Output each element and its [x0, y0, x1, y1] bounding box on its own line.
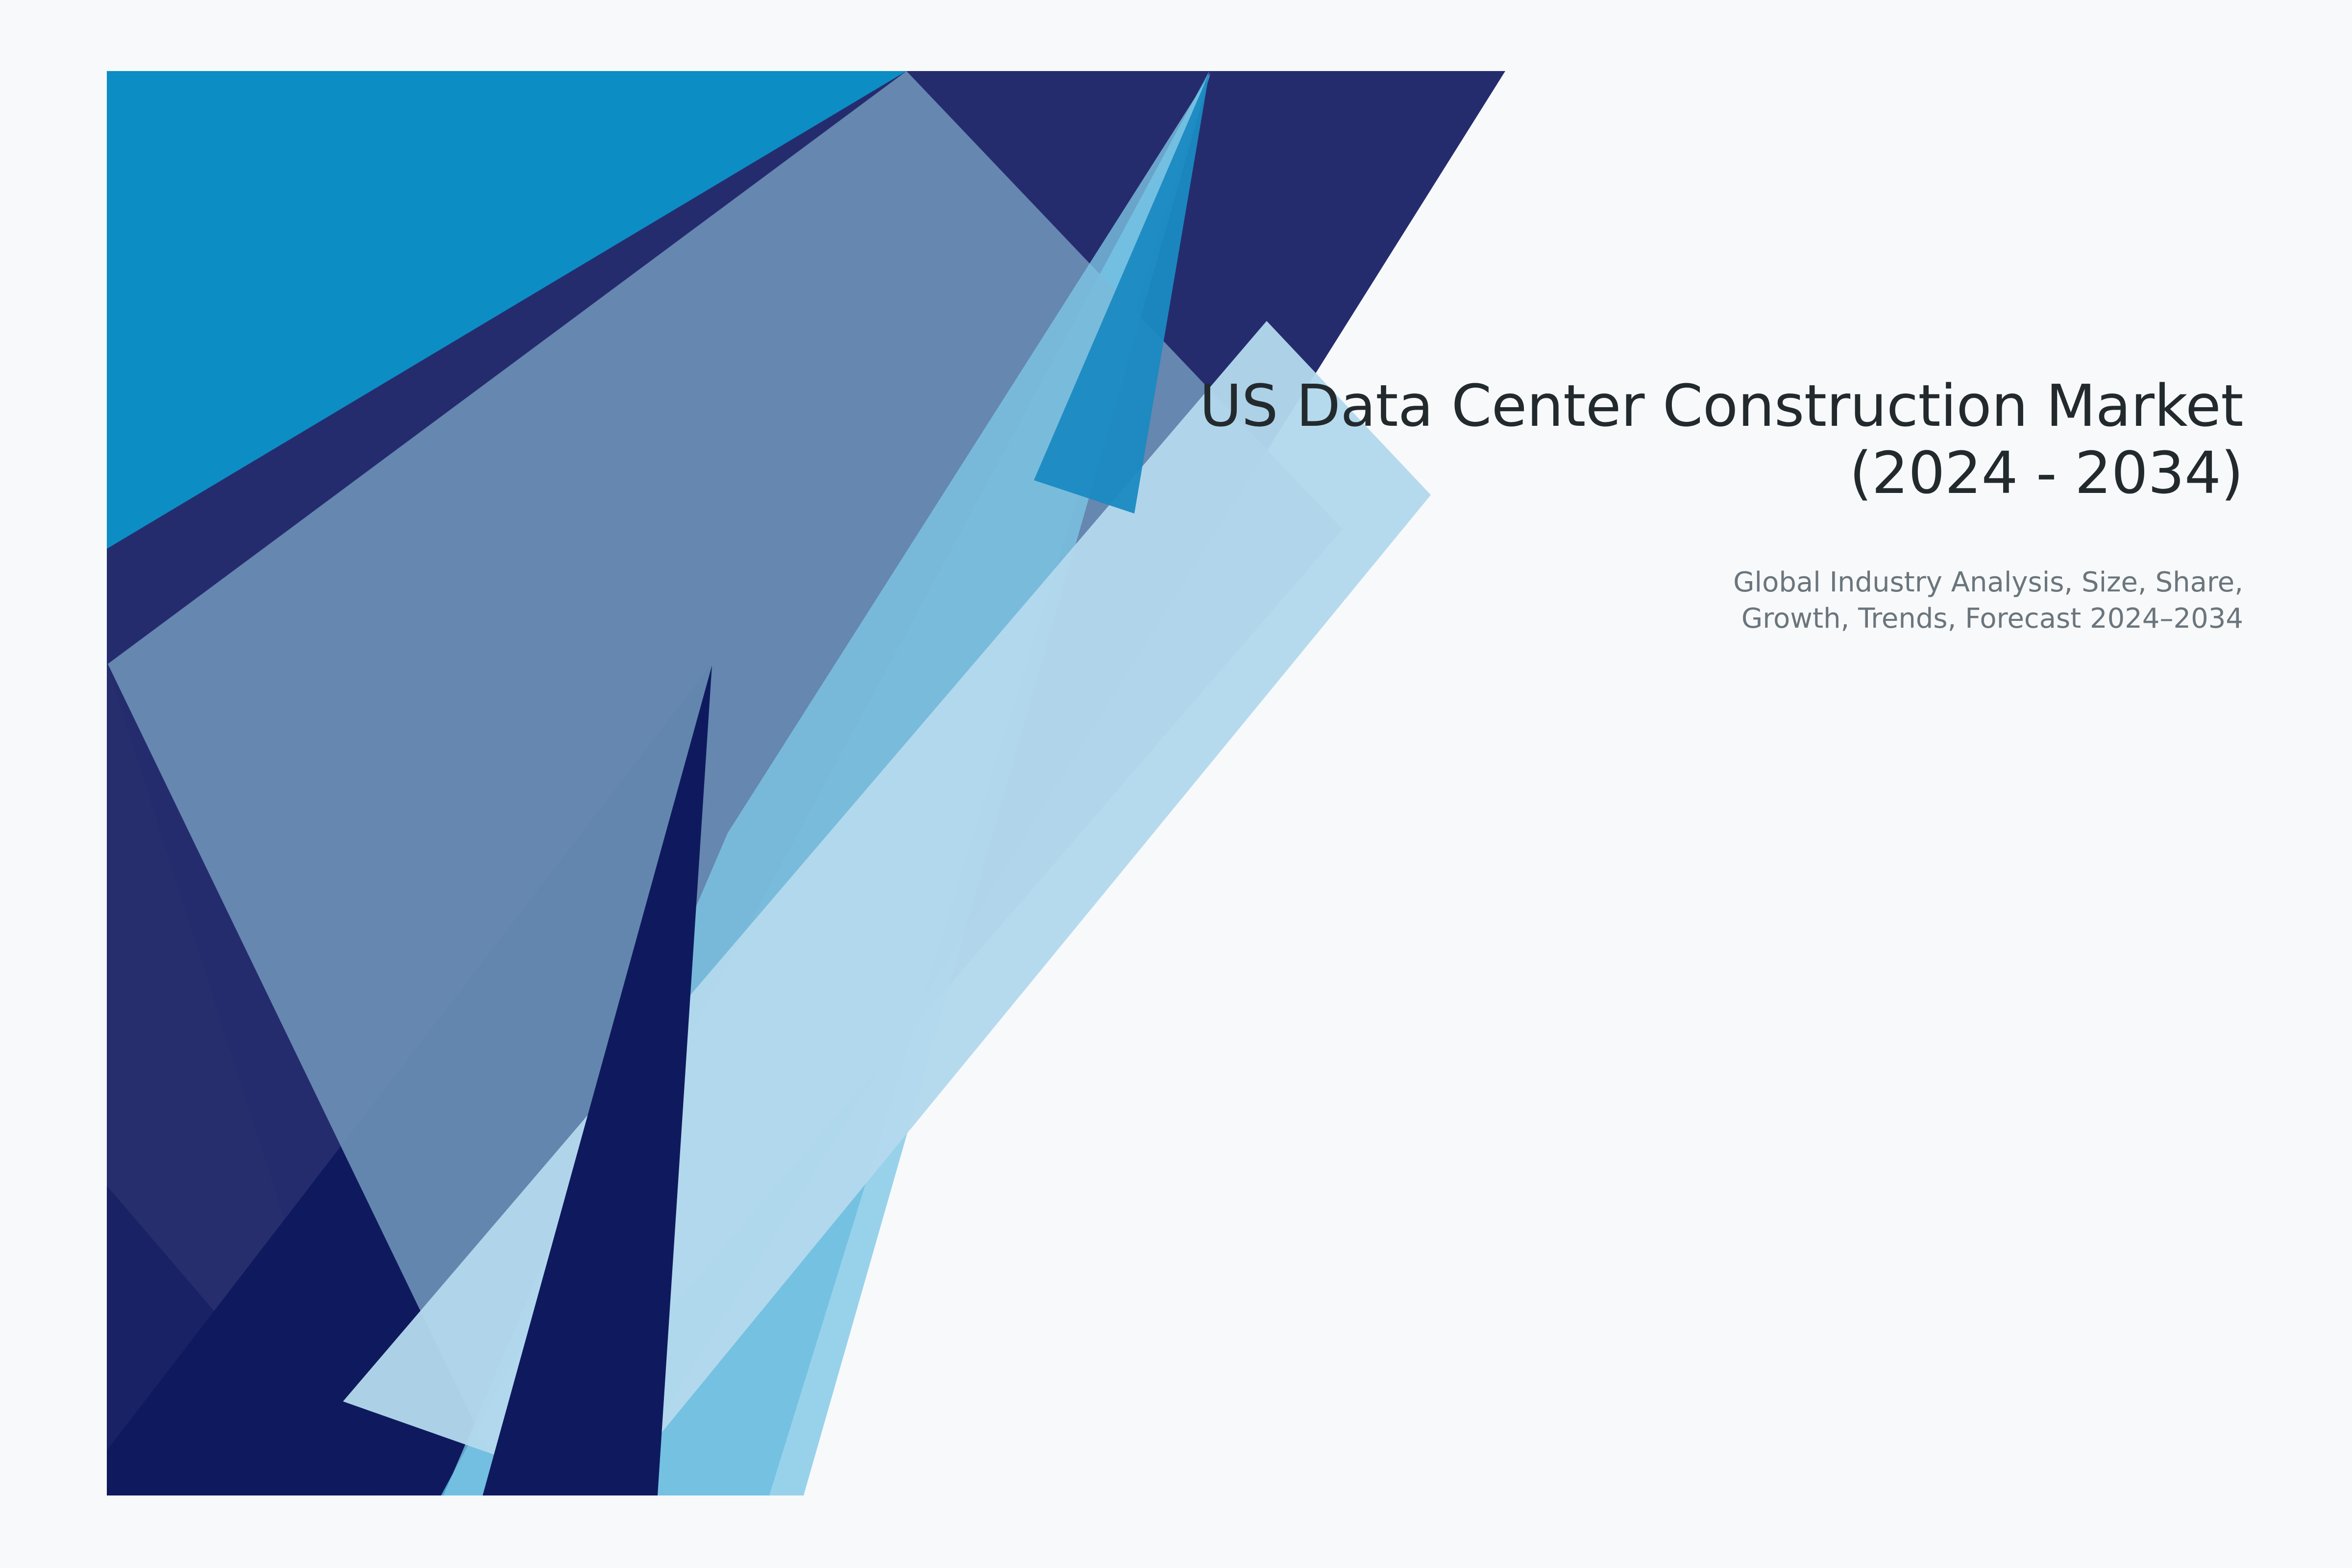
shape-slate-quad [108, 71, 1343, 1495]
shape-cyan-field [107, 71, 1505, 1495]
page-subtitle: Global Industry Analysis, Size, Share, G… [773, 564, 2243, 637]
shape-navy-spike [483, 665, 712, 1495]
cover-page: US Data Center Construction Market (2024… [0, 0, 2352, 1568]
page-subtitle-line-2: Growth, Trends, Forecast 2024–2034 [773, 601, 2243, 637]
shape-bottom-notch [514, 1367, 610, 1495]
abstract-geometric-cover-graphic [0, 0, 2352, 1568]
page-title-line-1: US Data Center Construction Market [773, 372, 2243, 440]
page-subtitle-line-1: Global Industry Analysis, Size, Share, [773, 564, 2243, 601]
shape-depth-overlay [107, 1186, 372, 1495]
page-title: US Data Center Construction Market (2024… [773, 372, 2243, 507]
title-underline-accent [2003, 534, 2248, 542]
cover-text-block: US Data Center Construction Market (2024… [773, 372, 2243, 637]
shape-sky-blue-band [443, 73, 1210, 1495]
shape-medium-blue-band [441, 71, 1209, 1495]
shape-darknavy-band [107, 665, 710, 1495]
shape-indigo-left-column [107, 664, 372, 1495]
page-title-line-2: (2024 - 2034) [773, 440, 2243, 507]
shape-navy-major [107, 71, 1505, 1495]
